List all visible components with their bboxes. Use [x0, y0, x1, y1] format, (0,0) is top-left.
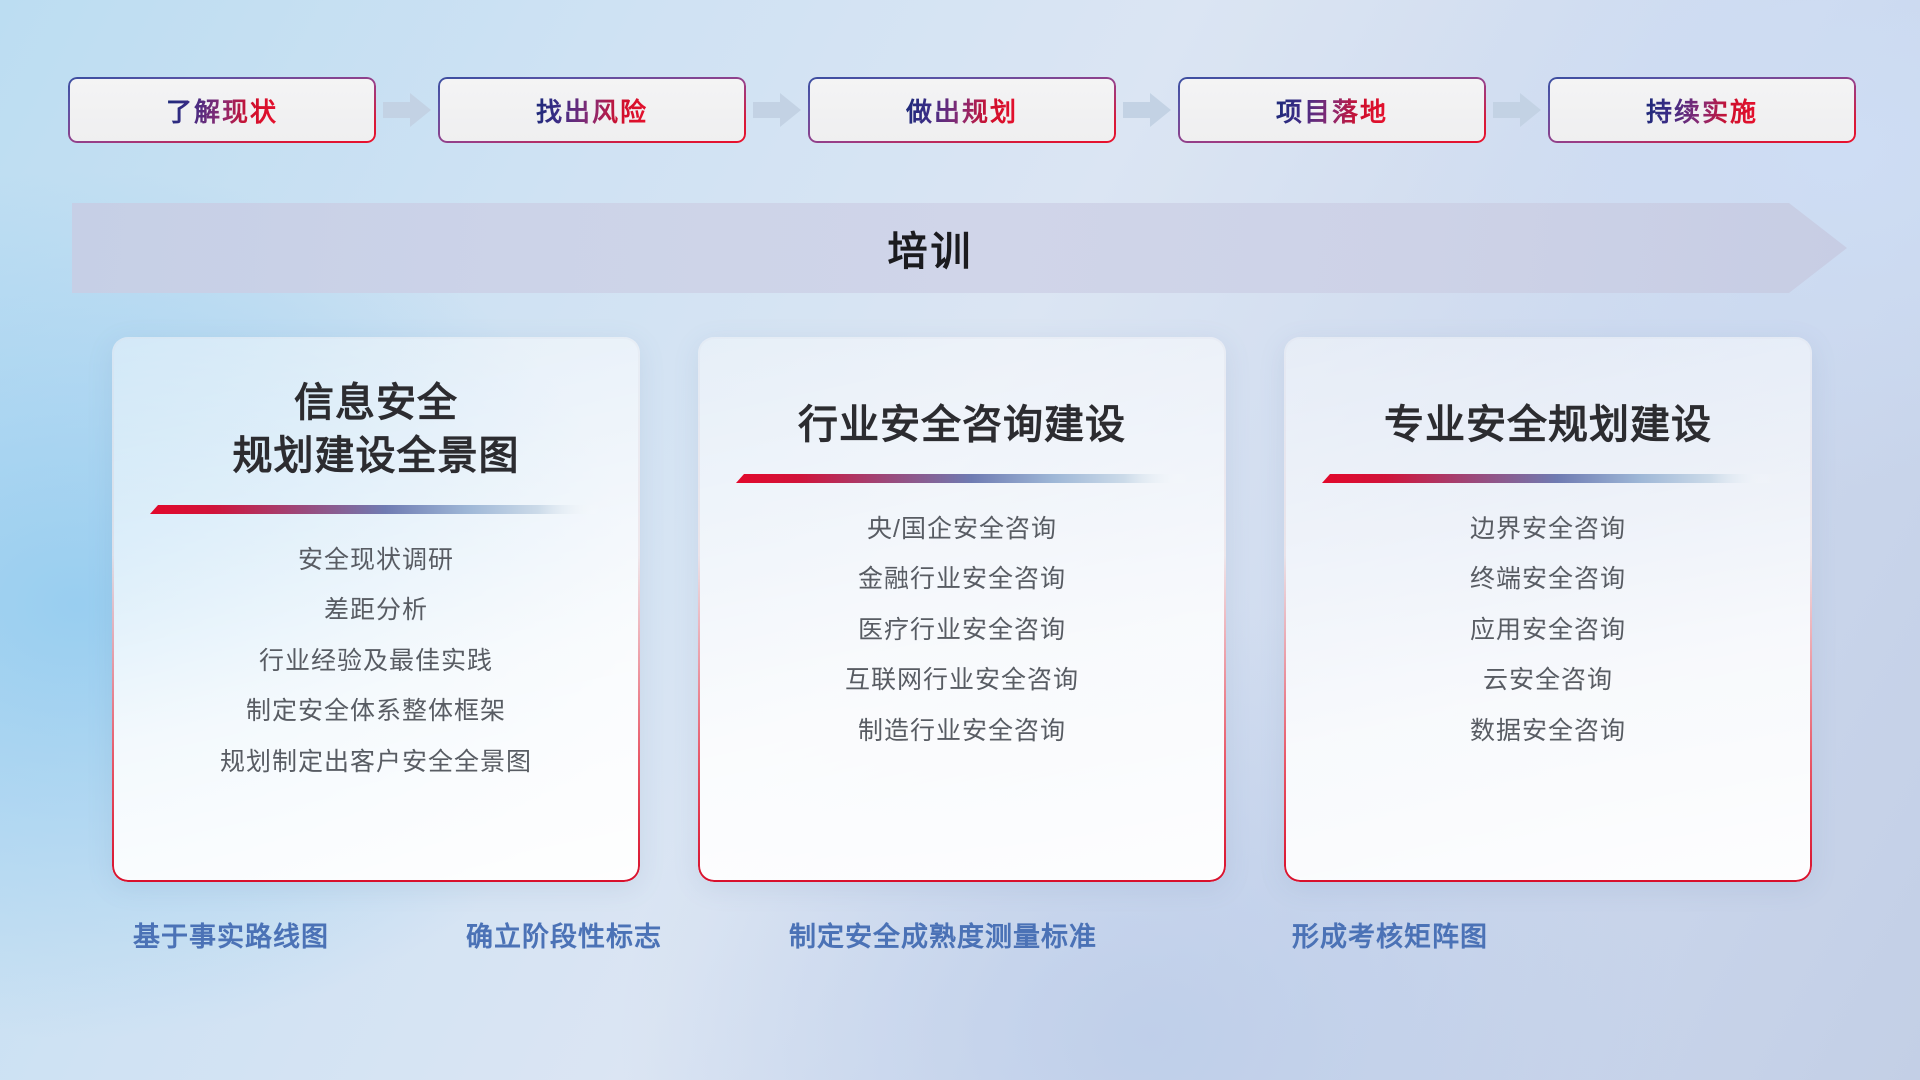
banner-title: 培训: [72, 203, 1847, 293]
list-item: 规划制定出客户安全全景图: [220, 742, 532, 783]
card-title-3: 专业安全规划建设: [1384, 399, 1712, 452]
step-box-3[interactable]: 做出规划: [808, 77, 1116, 143]
step-box-5[interactable]: 持续实施: [1548, 77, 1856, 143]
list-item: 制造行业安全咨询: [858, 711, 1066, 752]
card-list-3: 边界安全咨询 终端安全咨询 应用安全咨询 云安全咨询 数据安全咨询: [1470, 509, 1626, 752]
list-item: 云安全咨询: [1483, 660, 1613, 701]
arrow-right-icon: [376, 90, 438, 130]
list-item: 数据安全咨询: [1470, 711, 1626, 752]
training-banner: 培训: [72, 203, 1847, 293]
service-card-1[interactable]: 信息安全 规划建设全景图: [112, 337, 640, 882]
list-item: 金融行业安全咨询: [858, 559, 1066, 600]
arrow-right-icon: [746, 90, 808, 130]
caption-1: 基于事实路线图: [133, 915, 329, 954]
list-item: 央/国企安全咨询: [867, 509, 1057, 550]
step-label-3: 做出规划: [906, 92, 1018, 129]
list-item: 医疗行业安全咨询: [858, 610, 1066, 651]
slide-canvas: 了解现状 找出风险 做出规划 项目落地: [0, 0, 1920, 1080]
card-title-1: 信息安全 规划建设全景图: [233, 377, 520, 483]
process-steps-row: 了解现状 找出风险 做出规划 项目落地: [68, 76, 1858, 144]
card-divider-3: [1322, 474, 1774, 483]
step-label-2: 找出风险: [536, 92, 648, 129]
step-box-2[interactable]: 找出风险: [438, 77, 746, 143]
caption-3: 制定安全成熟度测量标准: [789, 915, 1097, 954]
list-item: 行业经验及最佳实践: [259, 641, 493, 682]
list-item: 差距分析: [324, 590, 428, 631]
caption-2: 确立阶段性标志: [466, 915, 662, 954]
step-box-1[interactable]: 了解现状: [68, 77, 376, 143]
step-box-4[interactable]: 项目落地: [1178, 77, 1486, 143]
list-item: 终端安全咨询: [1470, 559, 1626, 600]
list-item: 边界安全咨询: [1470, 509, 1626, 550]
card-title-2: 行业安全咨询建设: [798, 399, 1126, 452]
list-item: 制定安全体系整体框架: [246, 691, 506, 732]
step-label-1: 了解现状: [166, 92, 278, 129]
step-label-4: 项目落地: [1276, 92, 1388, 129]
service-card-2[interactable]: 行业安全咨询建设: [698, 337, 1226, 882]
outcome-captions-row: 基于事实路线图 确立阶段性标志 制定安全成熟度测量标准 形成考核矩阵图: [0, 915, 1920, 963]
list-item: 应用安全咨询: [1470, 610, 1626, 651]
service-cards-row: 信息安全 规划建设全景图: [112, 337, 1812, 882]
step-label-5: 持续实施: [1646, 92, 1758, 129]
list-item: 安全现状调研: [298, 540, 454, 581]
arrow-right-icon: [1116, 90, 1178, 130]
arrow-right-icon: [1486, 90, 1548, 130]
card-list-2: 央/国企安全咨询 金融行业安全咨询 医疗行业安全咨询 互联网行业安全咨询 制造行…: [845, 509, 1079, 752]
caption-4: 形成考核矩阵图: [1292, 915, 1488, 954]
service-card-3[interactable]: 专业安全规划建设: [1284, 337, 1812, 882]
card-divider-1: [150, 505, 602, 514]
list-item: 互联网行业安全咨询: [845, 660, 1079, 701]
card-divider-2: [736, 474, 1188, 483]
card-list-1: 安全现状调研 差距分析 行业经验及最佳实践 制定安全体系整体框架 规划制定出客户…: [220, 540, 532, 783]
